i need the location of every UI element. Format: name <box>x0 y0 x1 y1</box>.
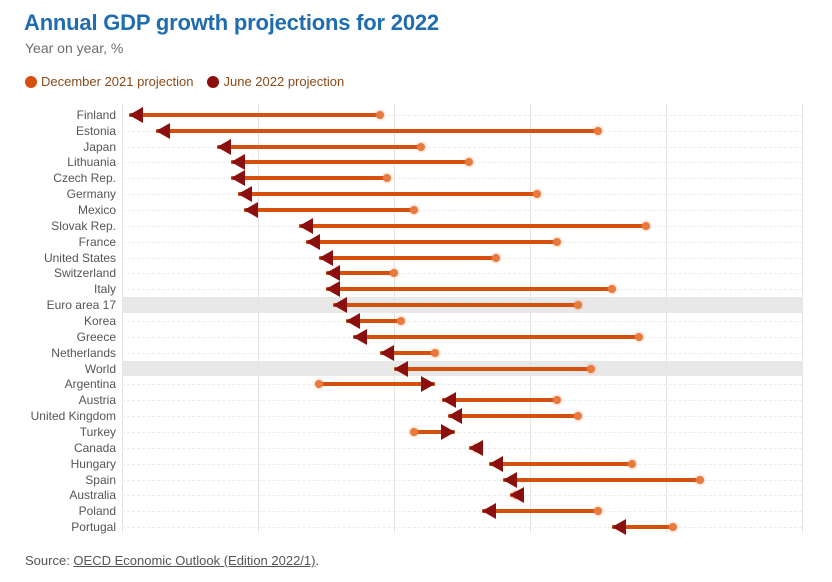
june-2022-arrow-italy[interactable] <box>326 281 340 297</box>
y-axis-label-finland: Finland <box>0 109 116 121</box>
source-link[interactable]: OECD Economic Outlook (Edition 2022/1) <box>73 553 315 568</box>
december-2021-point-netherlands[interactable] <box>431 349 439 357</box>
june-2022-arrow-united-states[interactable] <box>319 250 333 266</box>
y-axis-label-lithuania: Lithuania <box>0 156 116 168</box>
december-2021-point-hungary[interactable] <box>628 460 636 468</box>
page-title: Annual GDP growth projections for 2022 <box>24 10 439 36</box>
change-connector-mexico <box>244 208 414 212</box>
change-connector-slovak-rep- <box>299 224 646 228</box>
gridline-x-5 <box>802 105 803 533</box>
gridline-x-1 <box>258 105 259 533</box>
december-2021-point-lithuania[interactable] <box>465 158 473 166</box>
june-2022-arrow-poland[interactable] <box>482 503 496 519</box>
change-connector-lithuania <box>231 160 469 164</box>
y-axis-label-slovak-rep-: Slovak Rep. <box>0 220 116 232</box>
source-suffix: . <box>315 553 319 568</box>
chart-subtitle: Year on year, % <box>25 40 123 56</box>
december-2021-point-france[interactable] <box>553 238 561 246</box>
change-connector-united-states <box>319 256 496 260</box>
december-2021-point-germany[interactable] <box>533 190 541 198</box>
change-connector-austria <box>442 398 558 402</box>
june-2022-arrow-hungary[interactable] <box>489 456 503 472</box>
source-note: Source: OECD Economic Outlook (Edition 2… <box>25 553 319 568</box>
change-connector-world <box>394 367 591 371</box>
y-axis-label-euro-area-17: Euro area 17 <box>0 299 116 311</box>
change-connector-argentina <box>319 382 435 386</box>
y-axis-label-korea: Korea <box>0 315 116 327</box>
june-2022-arrow-switzerland[interactable] <box>326 265 340 281</box>
gridline-x-0 <box>122 105 123 533</box>
change-connector-france <box>306 240 558 244</box>
y-axis-label-poland: Poland <box>0 505 116 517</box>
row-gridline <box>122 527 802 528</box>
change-connector-estonia <box>156 129 598 133</box>
december-2021-point-japan[interactable] <box>417 143 425 151</box>
june-2022-arrow-austria[interactable] <box>442 392 456 408</box>
december-2021-point-euro-area-17[interactable] <box>574 301 582 309</box>
y-axis-label-greece: Greece <box>0 331 116 343</box>
y-axis-label-united-states: United States <box>0 252 116 264</box>
plot-area: FinlandEstoniaJapanLithuaniaCzech Rep.Ge… <box>122 105 802 533</box>
legend-item-june[interactable]: June 2022 projection <box>207 74 344 89</box>
june-2022-arrow-turkey[interactable] <box>441 424 455 440</box>
row-gridline <box>122 384 802 385</box>
june-2022-arrow-greece[interactable] <box>353 329 367 345</box>
change-connector-hungary <box>489 462 632 466</box>
december-2021-point-portugal[interactable] <box>669 523 677 531</box>
change-connector-czech-rep- <box>231 176 387 180</box>
y-axis-label-italy: Italy <box>0 283 116 295</box>
source-prefix: Source: <box>25 553 73 568</box>
gridline-x-3 <box>530 105 531 533</box>
legend-swatch-june-icon <box>207 76 219 88</box>
y-axis-label-netherlands: Netherlands <box>0 347 116 359</box>
row-gridline <box>122 511 802 512</box>
row-gridline <box>122 321 802 322</box>
december-2021-point-estonia[interactable] <box>594 127 602 135</box>
y-axis-label-united-kingdom: United Kingdom <box>0 410 116 422</box>
y-axis-label-france: France <box>0 236 116 248</box>
june-2022-arrow-portugal[interactable] <box>612 519 626 535</box>
change-connector-greece <box>353 335 639 339</box>
row-gridline <box>122 464 802 465</box>
legend-item-december[interactable]: December 2021 projection <box>25 74 193 89</box>
december-2021-point-mexico[interactable] <box>410 206 418 214</box>
december-2021-point-austria[interactable] <box>553 396 561 404</box>
y-axis-label-mexico: Mexico <box>0 204 116 216</box>
row-gridline <box>122 178 802 179</box>
june-2022-arrow-czech-rep-[interactable] <box>231 170 245 186</box>
june-2022-arrow-lithuania[interactable] <box>231 154 245 170</box>
june-2022-arrow-world[interactable] <box>394 361 408 377</box>
december-2021-point-united-states[interactable] <box>492 254 500 262</box>
row-gridline <box>122 448 802 449</box>
december-2021-point-poland[interactable] <box>594 507 602 515</box>
december-2021-point-korea[interactable] <box>397 317 405 325</box>
june-2022-arrow-australia[interactable] <box>510 487 524 503</box>
legend-swatch-december-icon <box>25 76 37 88</box>
june-2022-arrow-korea[interactable] <box>346 313 360 329</box>
december-2021-point-switzerland[interactable] <box>390 269 398 277</box>
change-connector-united-kingdom <box>448 414 577 418</box>
june-2022-arrow-finland[interactable] <box>129 107 143 123</box>
june-2022-arrow-france[interactable] <box>306 234 320 250</box>
row-gridline <box>122 273 802 274</box>
june-2022-arrow-spain[interactable] <box>503 472 517 488</box>
december-2021-point-greece[interactable] <box>635 333 643 341</box>
december-2021-point-finland[interactable] <box>376 111 384 119</box>
y-axis-label-australia: Australia <box>0 489 116 501</box>
y-axis-label-spain: Spain <box>0 474 116 486</box>
y-axis-label-turkey: Turkey <box>0 426 116 438</box>
december-2021-point-italy[interactable] <box>608 285 616 293</box>
june-2022-arrow-united-kingdom[interactable] <box>448 408 462 424</box>
december-2021-point-slovak-rep-[interactable] <box>642 222 650 230</box>
change-connector-spain <box>503 478 700 482</box>
june-2022-arrow-estonia[interactable] <box>156 123 170 139</box>
june-2022-arrow-mexico[interactable] <box>244 202 258 218</box>
june-2022-arrow-japan[interactable] <box>217 139 231 155</box>
june-2022-arrow-canada[interactable] <box>469 440 483 456</box>
y-axis-label-czech-rep-: Czech Rep. <box>0 172 116 184</box>
row-gridline <box>122 495 802 496</box>
june-2022-arrow-slovak-rep-[interactable] <box>299 218 313 234</box>
row-gridline <box>122 210 802 211</box>
row-gridline <box>122 432 802 433</box>
y-axis-label-austria: Austria <box>0 394 116 406</box>
change-connector-germany <box>238 192 537 196</box>
gridline-x-4 <box>666 105 667 533</box>
december-2021-point-united-kingdom[interactable] <box>574 412 582 420</box>
december-2021-point-czech-rep-[interactable] <box>383 174 391 182</box>
y-axis-label-germany: Germany <box>0 188 116 200</box>
change-connector-poland <box>482 509 598 513</box>
december-2021-point-turkey[interactable] <box>410 428 418 436</box>
change-connector-japan <box>217 145 421 149</box>
y-axis-label-world: World <box>0 363 116 375</box>
y-axis-label-canada: Canada <box>0 442 116 454</box>
y-axis-label-japan: Japan <box>0 141 116 153</box>
y-axis-label-estonia: Estonia <box>0 125 116 137</box>
y-axis-label-hungary: Hungary <box>0 458 116 470</box>
chart-legend: December 2021 projection June 2022 proje… <box>25 74 354 89</box>
row-gridline <box>122 353 802 354</box>
y-axis-label-switzerland: Switzerland <box>0 267 116 279</box>
june-2022-arrow-netherlands[interactable] <box>380 345 394 361</box>
june-2022-arrow-argentina[interactable] <box>421 376 435 392</box>
y-axis-label-argentina: Argentina <box>0 378 116 390</box>
y-axis-label-portugal: Portugal <box>0 521 116 533</box>
chart-page: Annual GDP growth projections for 2022 Y… <box>0 0 832 582</box>
change-connector-euro-area-17 <box>333 303 578 307</box>
december-2021-point-argentina[interactable] <box>315 380 323 388</box>
december-2021-point-spain[interactable] <box>696 476 704 484</box>
legend-label-june: June 2022 projection <box>223 74 344 89</box>
change-connector-finland <box>129 113 381 117</box>
june-2022-arrow-euro-area-17[interactable] <box>333 297 347 313</box>
june-2022-arrow-germany[interactable] <box>238 186 252 202</box>
december-2021-point-world[interactable] <box>587 365 595 373</box>
legend-label-december: December 2021 projection <box>41 74 193 89</box>
change-connector-italy <box>326 287 612 291</box>
